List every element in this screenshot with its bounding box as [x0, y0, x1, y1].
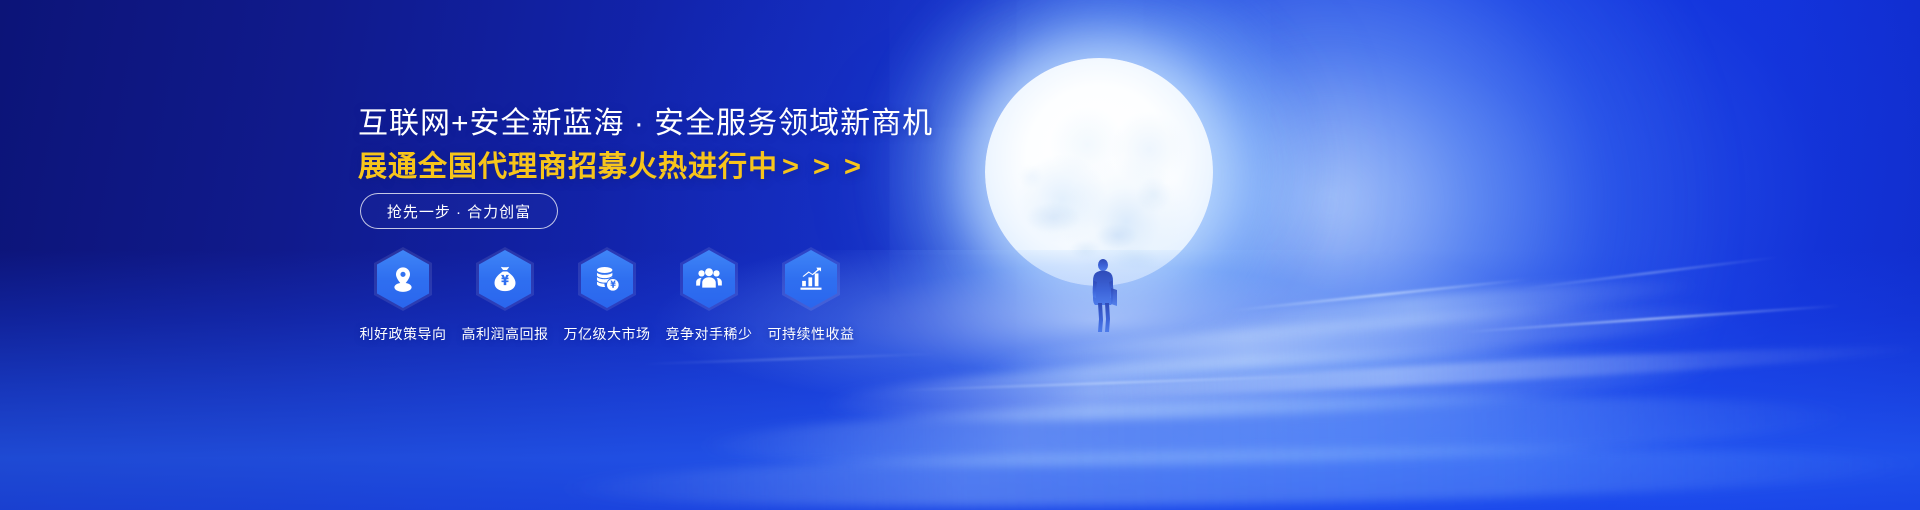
banner-content: 互联网+安全新蓝海 · 安全服务领域新商机 展通全国代理商招募火热进行中> > … — [0, 0, 1920, 510]
coin-stack-yuan-icon — [593, 265, 621, 293]
cta-pill-button[interactable]: 抢先一步 · 合力创富 — [360, 193, 558, 229]
feature-icon-hex — [581, 250, 633, 308]
feature-icon-hex — [479, 250, 531, 308]
feature-item[interactable]: 万亿级大市场 — [556, 250, 658, 344]
chevron-right-icon: > > > — [782, 151, 864, 183]
money-bag-yuan-icon — [491, 265, 519, 293]
campaign-subtitle-text: 展通全国代理商招募火热进行中 — [358, 151, 778, 183]
feature-label: 高利润高回报 — [462, 324, 549, 344]
feature-label: 利好政策导向 — [360, 324, 447, 344]
feature-item[interactable]: 可持续性收益 — [760, 250, 862, 344]
feature-icon-hex — [377, 250, 429, 308]
feature-label: 可持续性收益 — [768, 324, 855, 344]
promo-banner: 互联网+安全新蓝海 · 安全服务领域新商机 展通全国代理商招募火热进行中> > … — [0, 0, 1920, 510]
bar-chart-growth-icon — [797, 265, 825, 293]
feature-label: 竞争对手稀少 — [666, 324, 753, 344]
campaign-subtitle: 展通全国代理商招募火热进行中> > > — [358, 143, 864, 185]
feature-list: 利好政策导向 高利润高回报 — [352, 250, 862, 344]
feature-item[interactable]: 高利润高回报 — [454, 250, 556, 344]
page-title: 互联网+安全新蓝海 · 安全服务领域新商机 — [358, 98, 933, 142]
people-group-icon — [695, 265, 723, 293]
feature-item[interactable]: 利好政策导向 — [352, 250, 454, 344]
feature-icon-hex — [785, 250, 837, 308]
location-pin-icon — [389, 265, 417, 293]
feature-item[interactable]: 竞争对手稀少 — [658, 250, 760, 344]
feature-label: 万亿级大市场 — [564, 324, 651, 344]
feature-icon-hex — [683, 250, 735, 308]
